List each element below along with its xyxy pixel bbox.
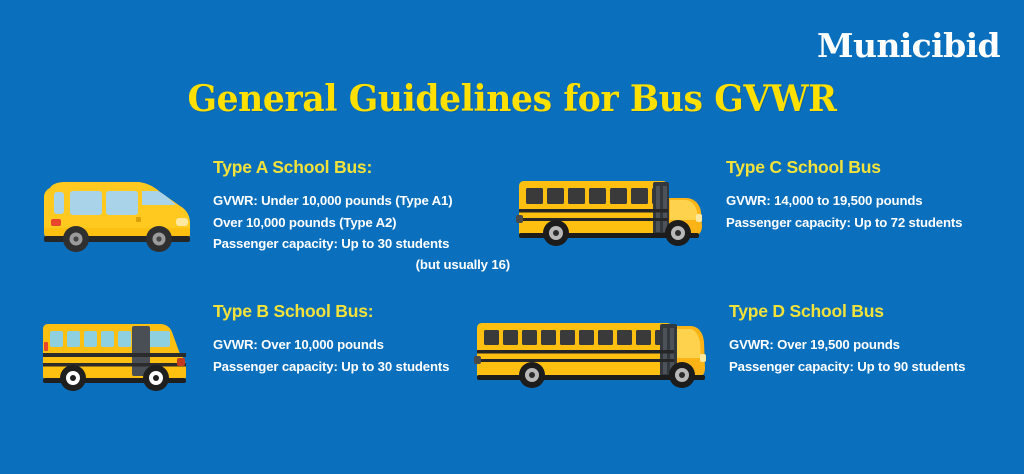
card-heading-c: Type C School Bus <box>726 158 1010 177</box>
card-line: GVWR: Over 19,500 pounds <box>729 334 1015 355</box>
card-line-note: (but usually 16) <box>213 254 510 275</box>
card-line: Passenger capacity: Up to 30 students <box>213 233 510 254</box>
card-text-block-d: Type D School Bus GVWR: Over 19,500 poun… <box>715 302 1015 377</box>
page-title: General Guidelines for Bus GVWR <box>20 78 1003 120</box>
bus-type-card-d: Type D School Bus GVWR: Over 19,500 poun… <box>470 302 1015 398</box>
infographic-canvas: Municibid General Guidelines for Bus GVW… <box>0 0 1024 474</box>
card-heading-d: Type D School Bus <box>729 302 1015 321</box>
brand-logo: Municibid <box>817 26 1000 65</box>
card-line: Passenger capacity: Up to 72 students <box>726 212 1010 233</box>
card-line: Passenger capacity: Up to 90 students <box>729 356 1015 377</box>
card-line: GVWR: 14,000 to 19,500 pounds <box>726 190 1010 211</box>
bus-type-card-a: Type A School Bus: GVWR: Under 10,000 po… <box>40 158 510 276</box>
bus-type-card-b: Type B School Bus: GVWR: Over 10,000 pou… <box>40 302 510 400</box>
card-heading-a: Type A School Bus: <box>213 158 510 177</box>
card-line: GVWR: Under 10,000 pounds (Type A1) <box>213 190 510 211</box>
card-line: Over 10,000 pounds (Type A2) <box>213 212 510 233</box>
flat-front-school-bus-icon <box>40 312 195 400</box>
card-text-block-a: Type A School Bus: GVWR: Under 10,000 po… <box>195 158 510 276</box>
conventional-nose-school-bus-icon <box>510 168 710 256</box>
card-text-block-b: Type B School Bus: GVWR: Over 10,000 pou… <box>195 302 510 377</box>
card-text-block-c: Type C School Bus GVWR: 14,000 to 19,500… <box>710 158 1010 233</box>
transit-style-school-bus-icon <box>470 310 715 398</box>
van-minibus-icon <box>40 172 195 260</box>
bus-type-card-grid: Type A School Bus: GVWR: Under 10,000 po… <box>0 150 1024 450</box>
card-line: GVWR: Over 10,000 pounds <box>213 334 510 355</box>
card-line: Passenger capacity: Up to 30 students <box>213 356 510 377</box>
bus-type-card-c: Type C School Bus GVWR: 14,000 to 19,500… <box>510 158 1010 256</box>
card-heading-b: Type B School Bus: <box>213 302 510 321</box>
